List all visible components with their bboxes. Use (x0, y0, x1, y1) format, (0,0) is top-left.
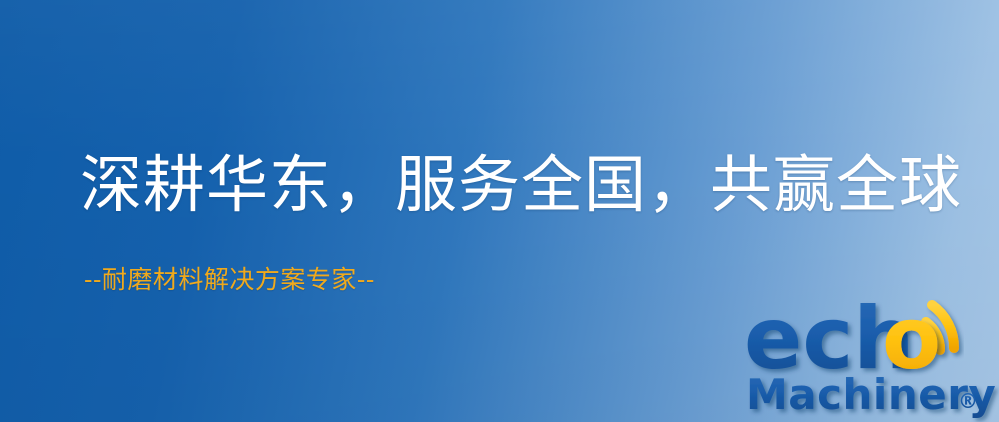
logo-registered-mark: ® (958, 389, 978, 413)
hero-banner: 深耕华东，服务全国，共赢全球 --耐磨材料解决方案专家-- (0, 0, 999, 422)
echo-machinery-logo[interactable]: ech o Machinery ® (744, 296, 999, 422)
banner-headline: 深耕华东，服务全国，共赢全球 (80, 152, 962, 219)
banner-subtitle: --耐磨材料解决方案专家-- (84, 266, 375, 294)
